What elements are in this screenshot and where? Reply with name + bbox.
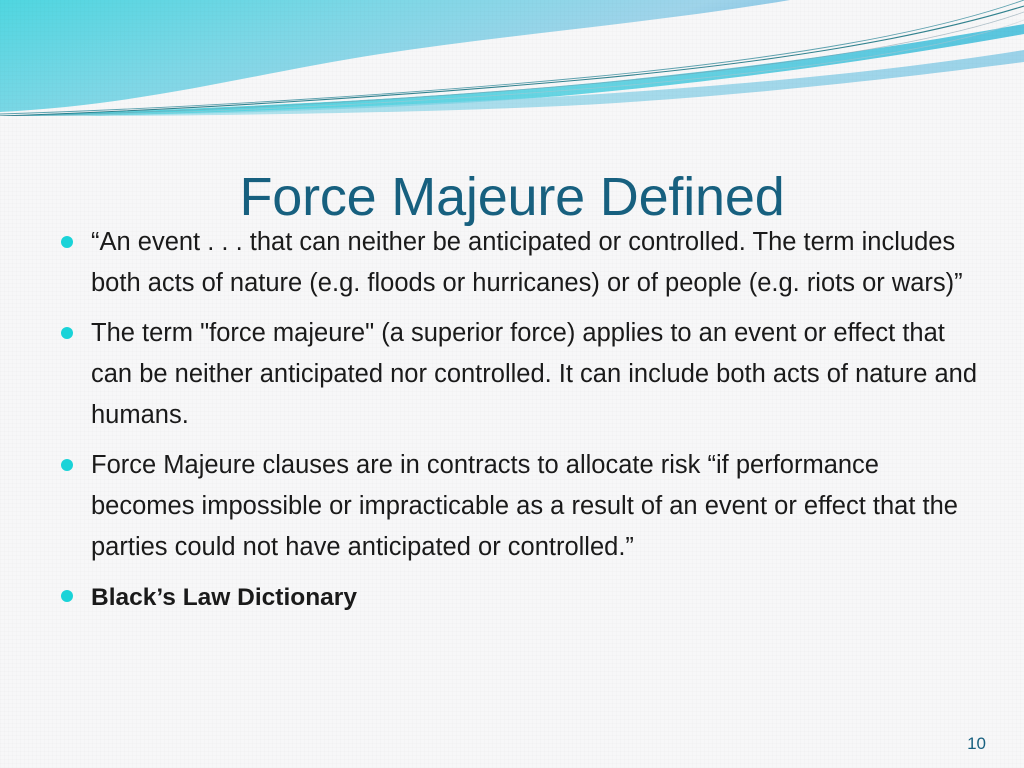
- bullet-list: “An event . . . that can neither be anti…: [58, 222, 978, 627]
- list-item-text: The term "force majeure" (a superior for…: [91, 313, 978, 436]
- list-item-text: Force Majeure clauses are in contracts t…: [91, 445, 978, 568]
- slide-canvas: Force Majeure Defined “An event . . . th…: [0, 0, 1024, 768]
- bullet-dot-icon: [61, 236, 73, 248]
- bullet-dot-icon: [61, 590, 73, 602]
- wave-banner-decoration: [0, 0, 1024, 116]
- list-item: “An event . . . that can neither be anti…: [58, 222, 978, 304]
- list-item: The term "force majeure" (a superior for…: [58, 313, 978, 436]
- list-item: Black’s Law Dictionary: [58, 577, 978, 618]
- bullet-dot-icon: [61, 459, 73, 471]
- list-item-text: Black’s Law Dictionary: [91, 577, 978, 618]
- page-number: 10: [967, 734, 986, 754]
- bullet-dot-icon: [61, 327, 73, 339]
- list-item-text: “An event . . . that can neither be anti…: [91, 222, 978, 304]
- list-item: Force Majeure clauses are in contracts t…: [58, 445, 978, 568]
- page-title: Force Majeure Defined: [0, 166, 1024, 228]
